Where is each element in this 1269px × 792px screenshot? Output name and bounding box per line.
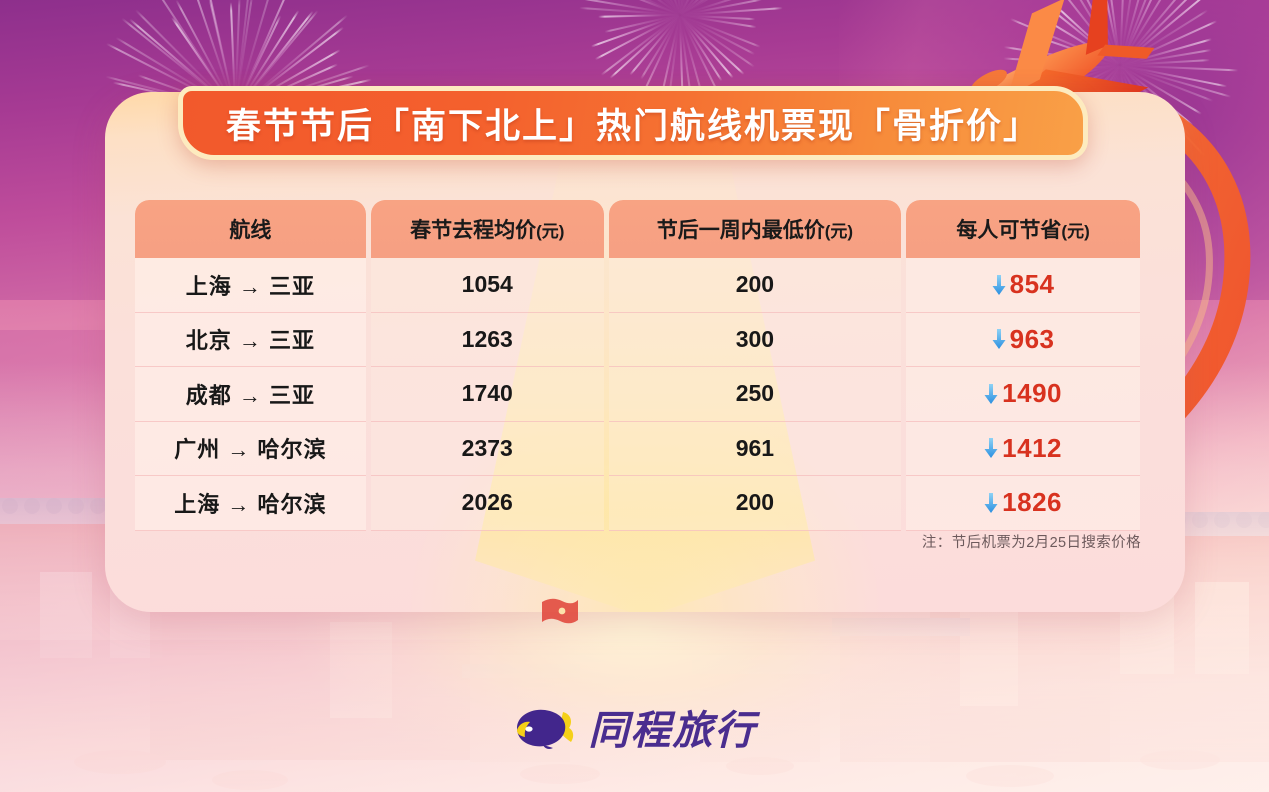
table-row: 1412: [906, 422, 1140, 477]
table-column-route: 航线 上海 → 三亚 北京 → 三亚 成都 → 三亚 广州 → 哈尔滨 上海 →…: [135, 200, 366, 531]
column-header-lowest-price-label: 节后一周内最低价: [657, 214, 825, 244]
cell-avg-price: 2026: [462, 489, 513, 516]
column-header-savings-label: 每人可节省: [956, 214, 1061, 244]
arrow-down-icon: [992, 329, 1006, 349]
table-column-avg-price: 春节去程均价(元) 1054 1263 1740 2373 2026: [371, 200, 604, 531]
brand-logo: 同程旅行: [513, 698, 757, 756]
brand-name: 同程旅行: [589, 698, 757, 756]
cell-route: 广州 → 哈尔滨: [174, 432, 326, 464]
cell-route: 北京 → 三亚: [186, 323, 315, 355]
cell-savings: 1412: [1002, 433, 1062, 464]
table-row: 上海 → 三亚: [135, 258, 366, 313]
cell-lowest-price: 200: [736, 271, 774, 298]
cell-avg-price: 1740: [462, 380, 513, 407]
table-row: 200: [609, 258, 902, 313]
cell-savings: 854: [1010, 269, 1055, 300]
title-banner: 春节节后「南下北上」热门航线机票现「骨折价」: [178, 86, 1088, 160]
column-header-lowest-price: 节后一周内最低价 (元): [609, 200, 902, 258]
cell-route: 上海 → 三亚: [186, 269, 315, 301]
column-header-avg-price-label: 春节去程均价: [410, 214, 536, 244]
table-row: 成都 → 三亚: [135, 367, 366, 422]
cell-avg-price: 2373: [462, 435, 513, 462]
table-row: 北京 → 三亚: [135, 313, 366, 368]
arrow-down-icon: [984, 493, 998, 513]
arrow-down-icon: [992, 275, 1006, 295]
table-row: 854: [906, 258, 1140, 313]
tongcheng-whale-icon: [513, 704, 577, 750]
column-header-savings: 每人可节省(元): [906, 200, 1140, 258]
column-header-avg-price: 春节去程均价(元): [371, 200, 604, 258]
poster-root: 春节节后「南下北上」热门航线机票现「骨折价」 航线 上海 → 三亚 北京 → 三…: [0, 0, 1269, 792]
cell-savings: 1826: [1002, 487, 1062, 518]
arrow-down-icon: [984, 438, 998, 458]
table-row: 1826: [906, 476, 1140, 531]
cell-avg-price: 1263: [462, 326, 513, 353]
table-row: 300: [609, 313, 902, 368]
table-row: 1263: [371, 313, 604, 368]
cell-lowest-price: 300: [736, 326, 774, 353]
table-column-lowest-price: 节后一周内最低价 (元) 200 300 250 961 200: [609, 200, 902, 531]
table-row: 1054: [371, 258, 604, 313]
table-row: 963: [906, 313, 1140, 368]
cell-route: 成都 → 三亚: [186, 378, 315, 410]
table-row: 2373: [371, 422, 604, 477]
table-row: 2026: [371, 476, 604, 531]
column-header-route-label: 航线: [229, 214, 271, 244]
price-table: 航线 上海 → 三亚 北京 → 三亚 成都 → 三亚 广州 → 哈尔滨 上海 →…: [135, 200, 1140, 531]
cell-route: 上海 → 哈尔滨: [174, 487, 326, 519]
table-row: 1740: [371, 367, 604, 422]
column-header-lowest-price-unit: (元): [825, 217, 853, 242]
table-row: 250: [609, 367, 902, 422]
table-row: 上海 → 哈尔滨: [135, 476, 366, 531]
arrow-down-icon: [984, 384, 998, 404]
column-header-avg-price-unit: (元): [536, 217, 564, 242]
table-row: 200: [609, 476, 902, 531]
red-flag-icon: [540, 596, 580, 630]
cell-savings: 1490: [1002, 378, 1062, 409]
table-column-savings: 每人可节省(元) 854 963 1490: [906, 200, 1140, 531]
page-title: 春节节后「南下北上」热门航线机票现「骨折价」: [226, 98, 1040, 149]
footnote: 注：节后机票为2月25日搜索价格: [922, 531, 1141, 552]
table-row: 广州 → 哈尔滨: [135, 422, 366, 477]
column-header-route: 航线: [135, 200, 366, 258]
cell-lowest-price: 250: [736, 380, 774, 407]
cell-savings: 963: [1010, 324, 1055, 355]
cell-lowest-price: 200: [736, 489, 774, 516]
table-row: 961: [609, 422, 902, 477]
table-row: 1490: [906, 367, 1140, 422]
cell-avg-price: 1054: [462, 271, 513, 298]
column-header-savings-unit: (元): [1061, 217, 1089, 242]
cell-lowest-price: 961: [736, 435, 774, 462]
